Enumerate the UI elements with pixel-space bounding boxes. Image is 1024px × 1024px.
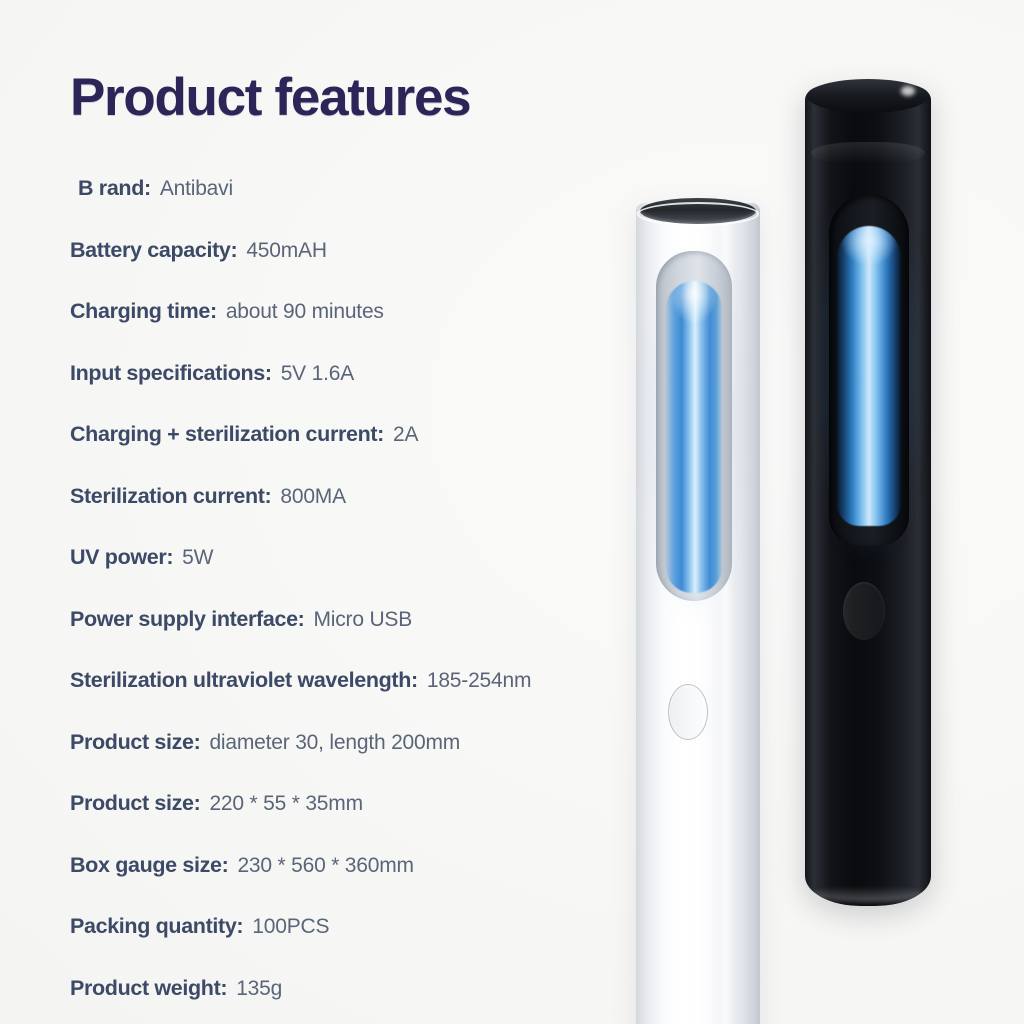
spec-row-power-supply-interface: Power supply interface: Micro USB: [0, 609, 640, 671]
spec-label: Product weight:: [70, 978, 227, 1000]
spec-label: Packing quantity:: [70, 916, 243, 938]
spec-value: 2A: [393, 424, 418, 445]
spec-label: Product size:: [70, 793, 200, 815]
spec-label: Charging time:: [70, 301, 217, 323]
black-wand-bottom-sheen: [813, 886, 923, 902]
spec-label: UV power:: [70, 547, 173, 569]
spec-row-box-gauge-size: Box gauge size: 230 * 560 * 360mm: [0, 855, 640, 917]
spec-label: Input specifications:: [70, 363, 272, 385]
white-wand-uv-tube-icon: [666, 281, 722, 593]
product-features-page: Product features B rand: Antibavi Batter…: [0, 0, 1024, 1024]
black-wand-top-cap: [807, 79, 929, 113]
spec-row-product-weight: Product weight: 135g: [0, 978, 640, 1024]
product-image-white-wand: [636, 203, 760, 1024]
spec-label: Battery capacity:: [70, 240, 237, 262]
spec-value: 220 * 55 * 35mm: [209, 793, 362, 814]
black-wand-cap-highlight: [901, 86, 915, 96]
spec-row-input-specifications: Input specifications: 5V 1.6A: [0, 363, 640, 425]
page-title: Product features: [70, 70, 470, 126]
spec-label: B rand:: [78, 178, 151, 200]
spec-row-battery-capacity: Battery capacity: 450mAH: [0, 240, 640, 302]
spec-row-product-size-diameter: Product size: diameter 30, length 200mm: [0, 732, 640, 794]
spec-value: 100PCS: [252, 916, 329, 937]
product-image-stage: [600, 0, 1024, 1024]
spec-panel: Product features B rand: Antibavi Batter…: [0, 0, 640, 1024]
black-wand-power-button: [843, 582, 885, 640]
spec-row-sterilization-current: Sterilization current: 800MA: [0, 486, 640, 548]
spec-list: B rand: Antibavi Battery capacity: 450mA…: [0, 178, 640, 1024]
spec-value: 5V 1.6A: [281, 363, 354, 384]
spec-label: Charging + sterilization current:: [70, 424, 384, 446]
spec-value: Micro USB: [314, 609, 413, 630]
spec-value: 800MA: [280, 486, 346, 507]
black-wand-uv-tube-icon: [837, 226, 901, 526]
black-wand-cap-edge: [811, 142, 925, 164]
spec-row-product-size-dimensions: Product size: 220 * 55 * 35mm: [0, 793, 640, 855]
spec-value: 5W: [182, 547, 213, 568]
spec-value: 185-254nm: [427, 670, 531, 691]
spec-value: diameter 30, length 200mm: [209, 732, 460, 753]
spec-value: about 90 minutes: [226, 301, 384, 322]
spec-value: 230 * 560 * 360mm: [237, 855, 413, 876]
spec-label: Product size:: [70, 732, 200, 754]
spec-row-charging-time: Charging time: about 90 minutes: [0, 301, 640, 363]
spec-label: Box gauge size:: [70, 855, 228, 877]
spec-label: Power supply interface:: [70, 609, 305, 631]
spec-label: Sterilization ultraviolet wavelength:: [70, 670, 418, 692]
white-wand-power-button: [668, 684, 708, 740]
spec-row-brand: B rand: Antibavi: [0, 178, 640, 240]
spec-value: 450mAH: [246, 240, 327, 261]
spec-row-uv-power: UV power: 5W: [0, 547, 640, 609]
spec-label: Sterilization current:: [70, 486, 271, 508]
spec-row-charging-sterilization-current: Charging + sterilization current: 2A: [0, 424, 640, 486]
spec-value: 135g: [236, 978, 282, 999]
spec-row-packing-quantity: Packing quantity: 100PCS: [0, 916, 640, 978]
white-wand-rim-lip: [637, 202, 759, 226]
spec-row-uv-wavelength: Sterilization ultraviolet wavelength: 18…: [0, 670, 640, 732]
product-image-black-wand: [805, 86, 931, 906]
spec-value: Antibavi: [160, 178, 233, 199]
